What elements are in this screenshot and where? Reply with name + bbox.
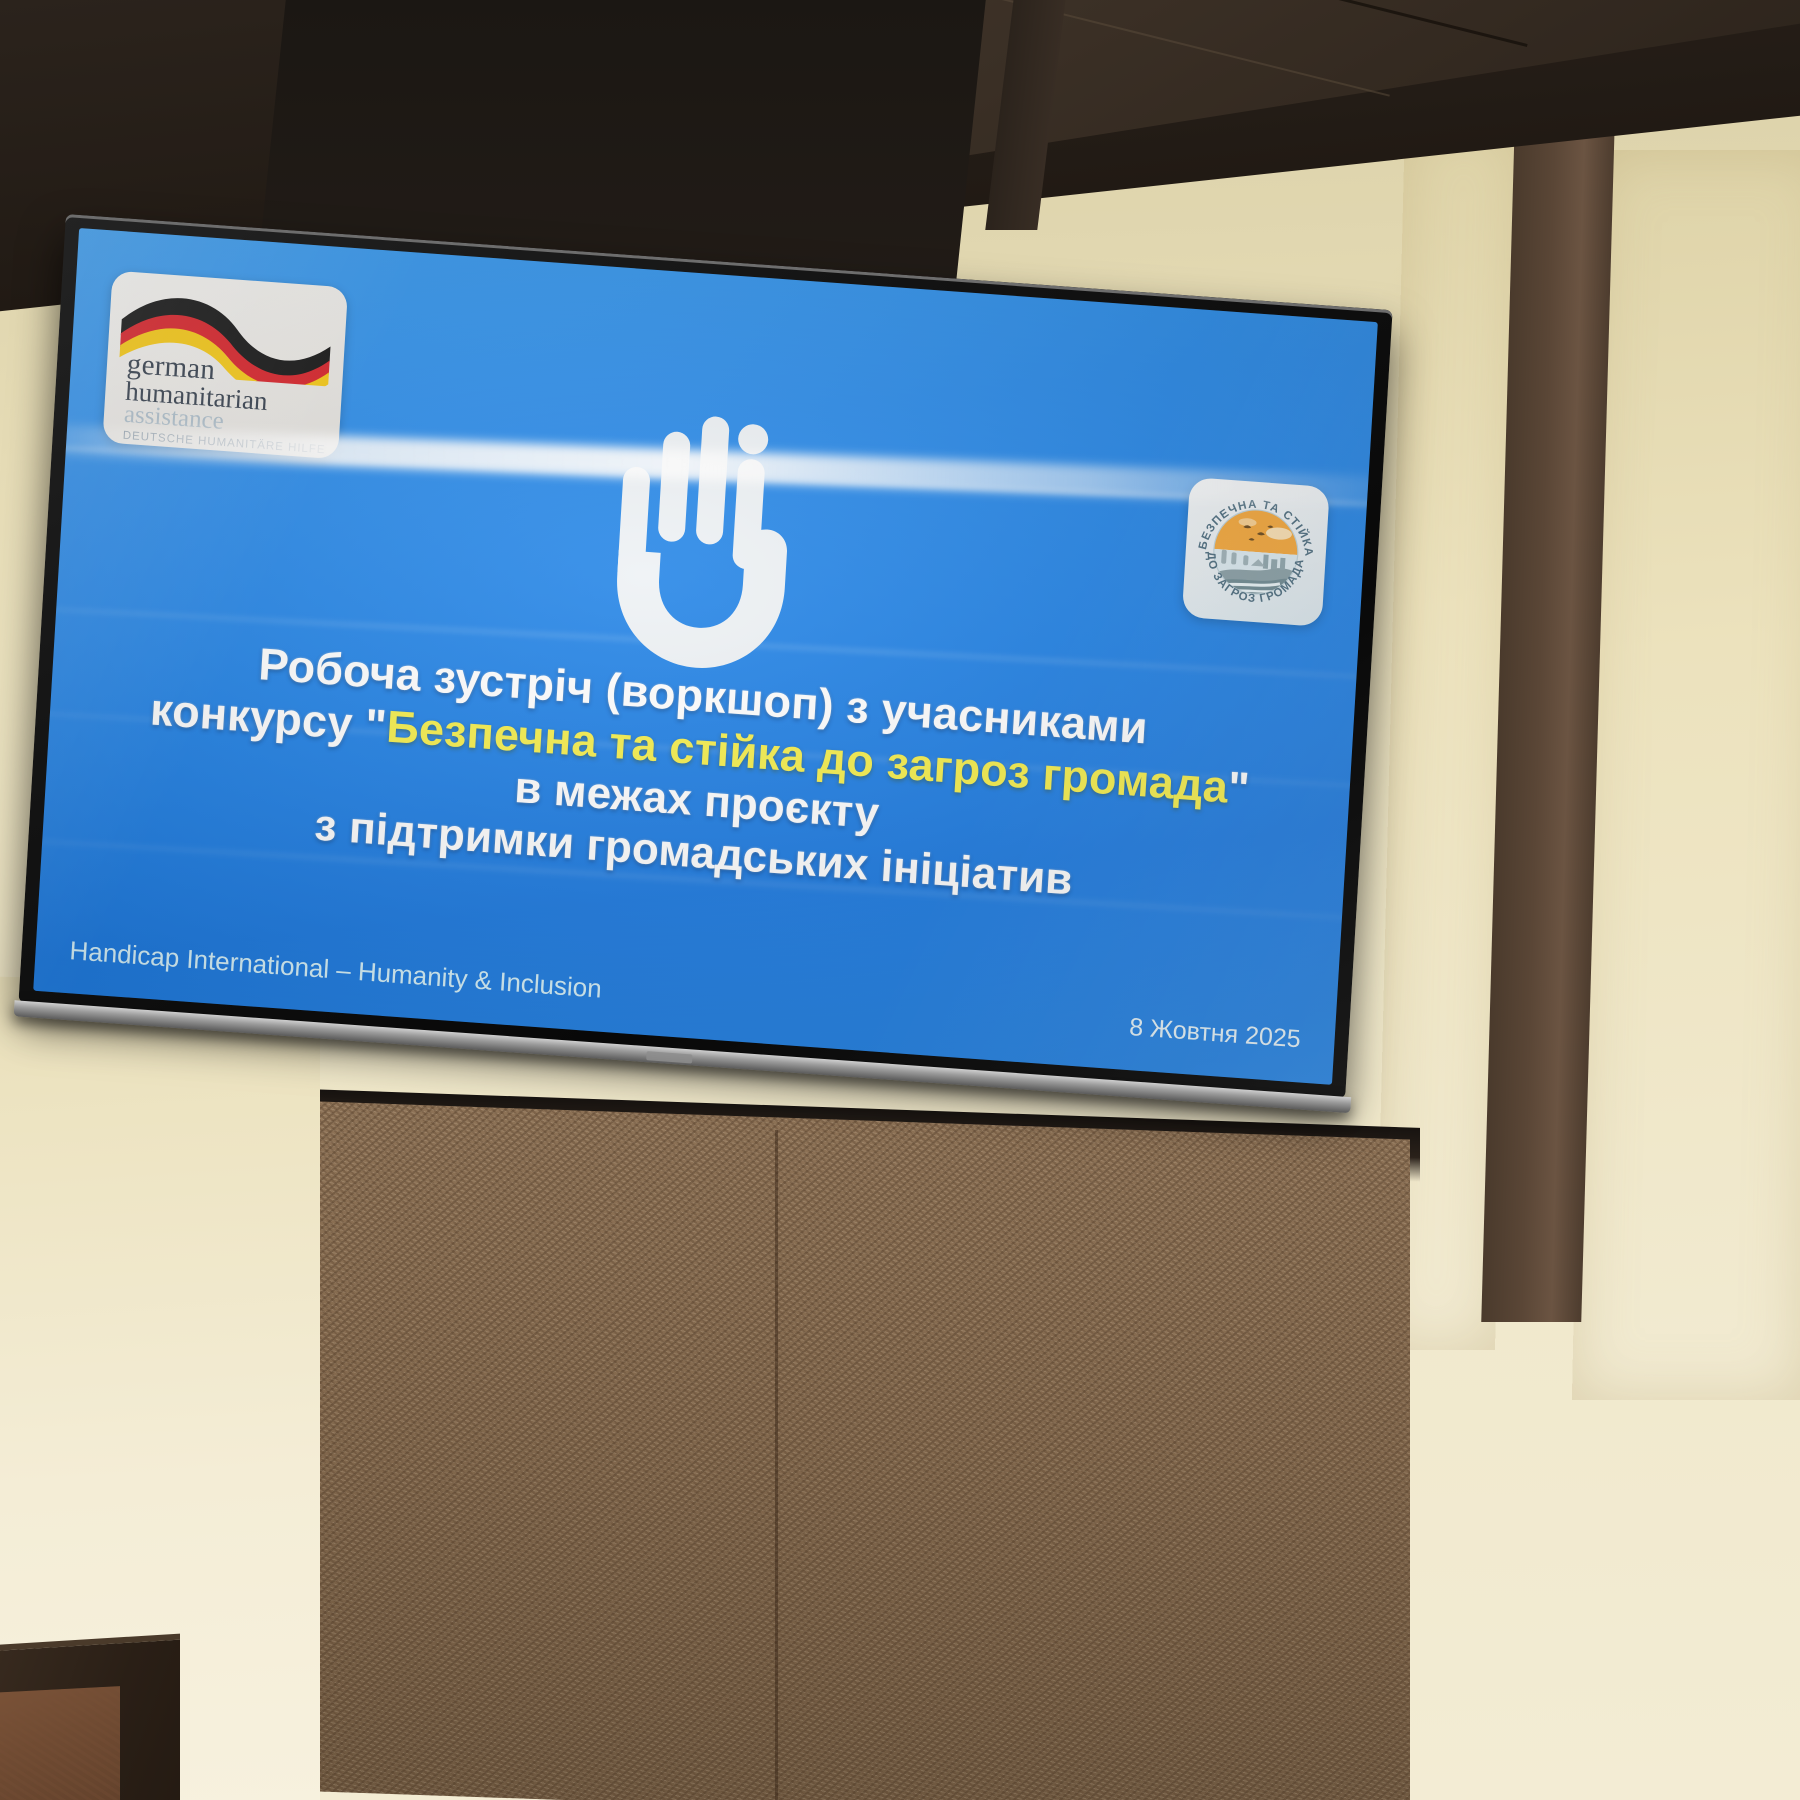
footer-date: 8 Жовтня 2025: [1128, 1013, 1301, 1054]
title-line-2-suffix: ": [1227, 761, 1252, 813]
room-scene: german humanitarian assistance DEUTSCHE …: [0, 0, 1800, 1800]
footer-organization-name: Handicap International – Humanity & Incl…: [69, 935, 603, 1005]
presentation-slide: german humanitarian assistance DEUTSCHE …: [33, 228, 1378, 1085]
humanity-and-inclusion-hi-hand-logo: [600, 399, 826, 684]
safe-and-resilient-community-badge: БЕЗПЕЧНА ТА СТІЙКА ДО ЗАГРОЗ ГРОМАДА: [1182, 477, 1330, 627]
acoustic-wall-panel: [290, 1100, 1410, 1800]
donor-logo-text: german humanitarian assistance DEUTSCHE …: [122, 350, 330, 457]
german-humanitarian-assistance-logo: german humanitarian assistance DEUTSCHE …: [102, 271, 348, 460]
cabinet-front-panel: [0, 1686, 120, 1800]
acoustic-panel-seam: [775, 1130, 778, 1800]
wall-mounted-television[interactable]: german humanitarian assistance DEUTSCHE …: [18, 214, 1392, 1099]
badge-artwork-icon: БЕЗПЕЧНА ТА СТІЙКА ДО ЗАГРОЗ ГРОМАДА: [1182, 477, 1330, 627]
